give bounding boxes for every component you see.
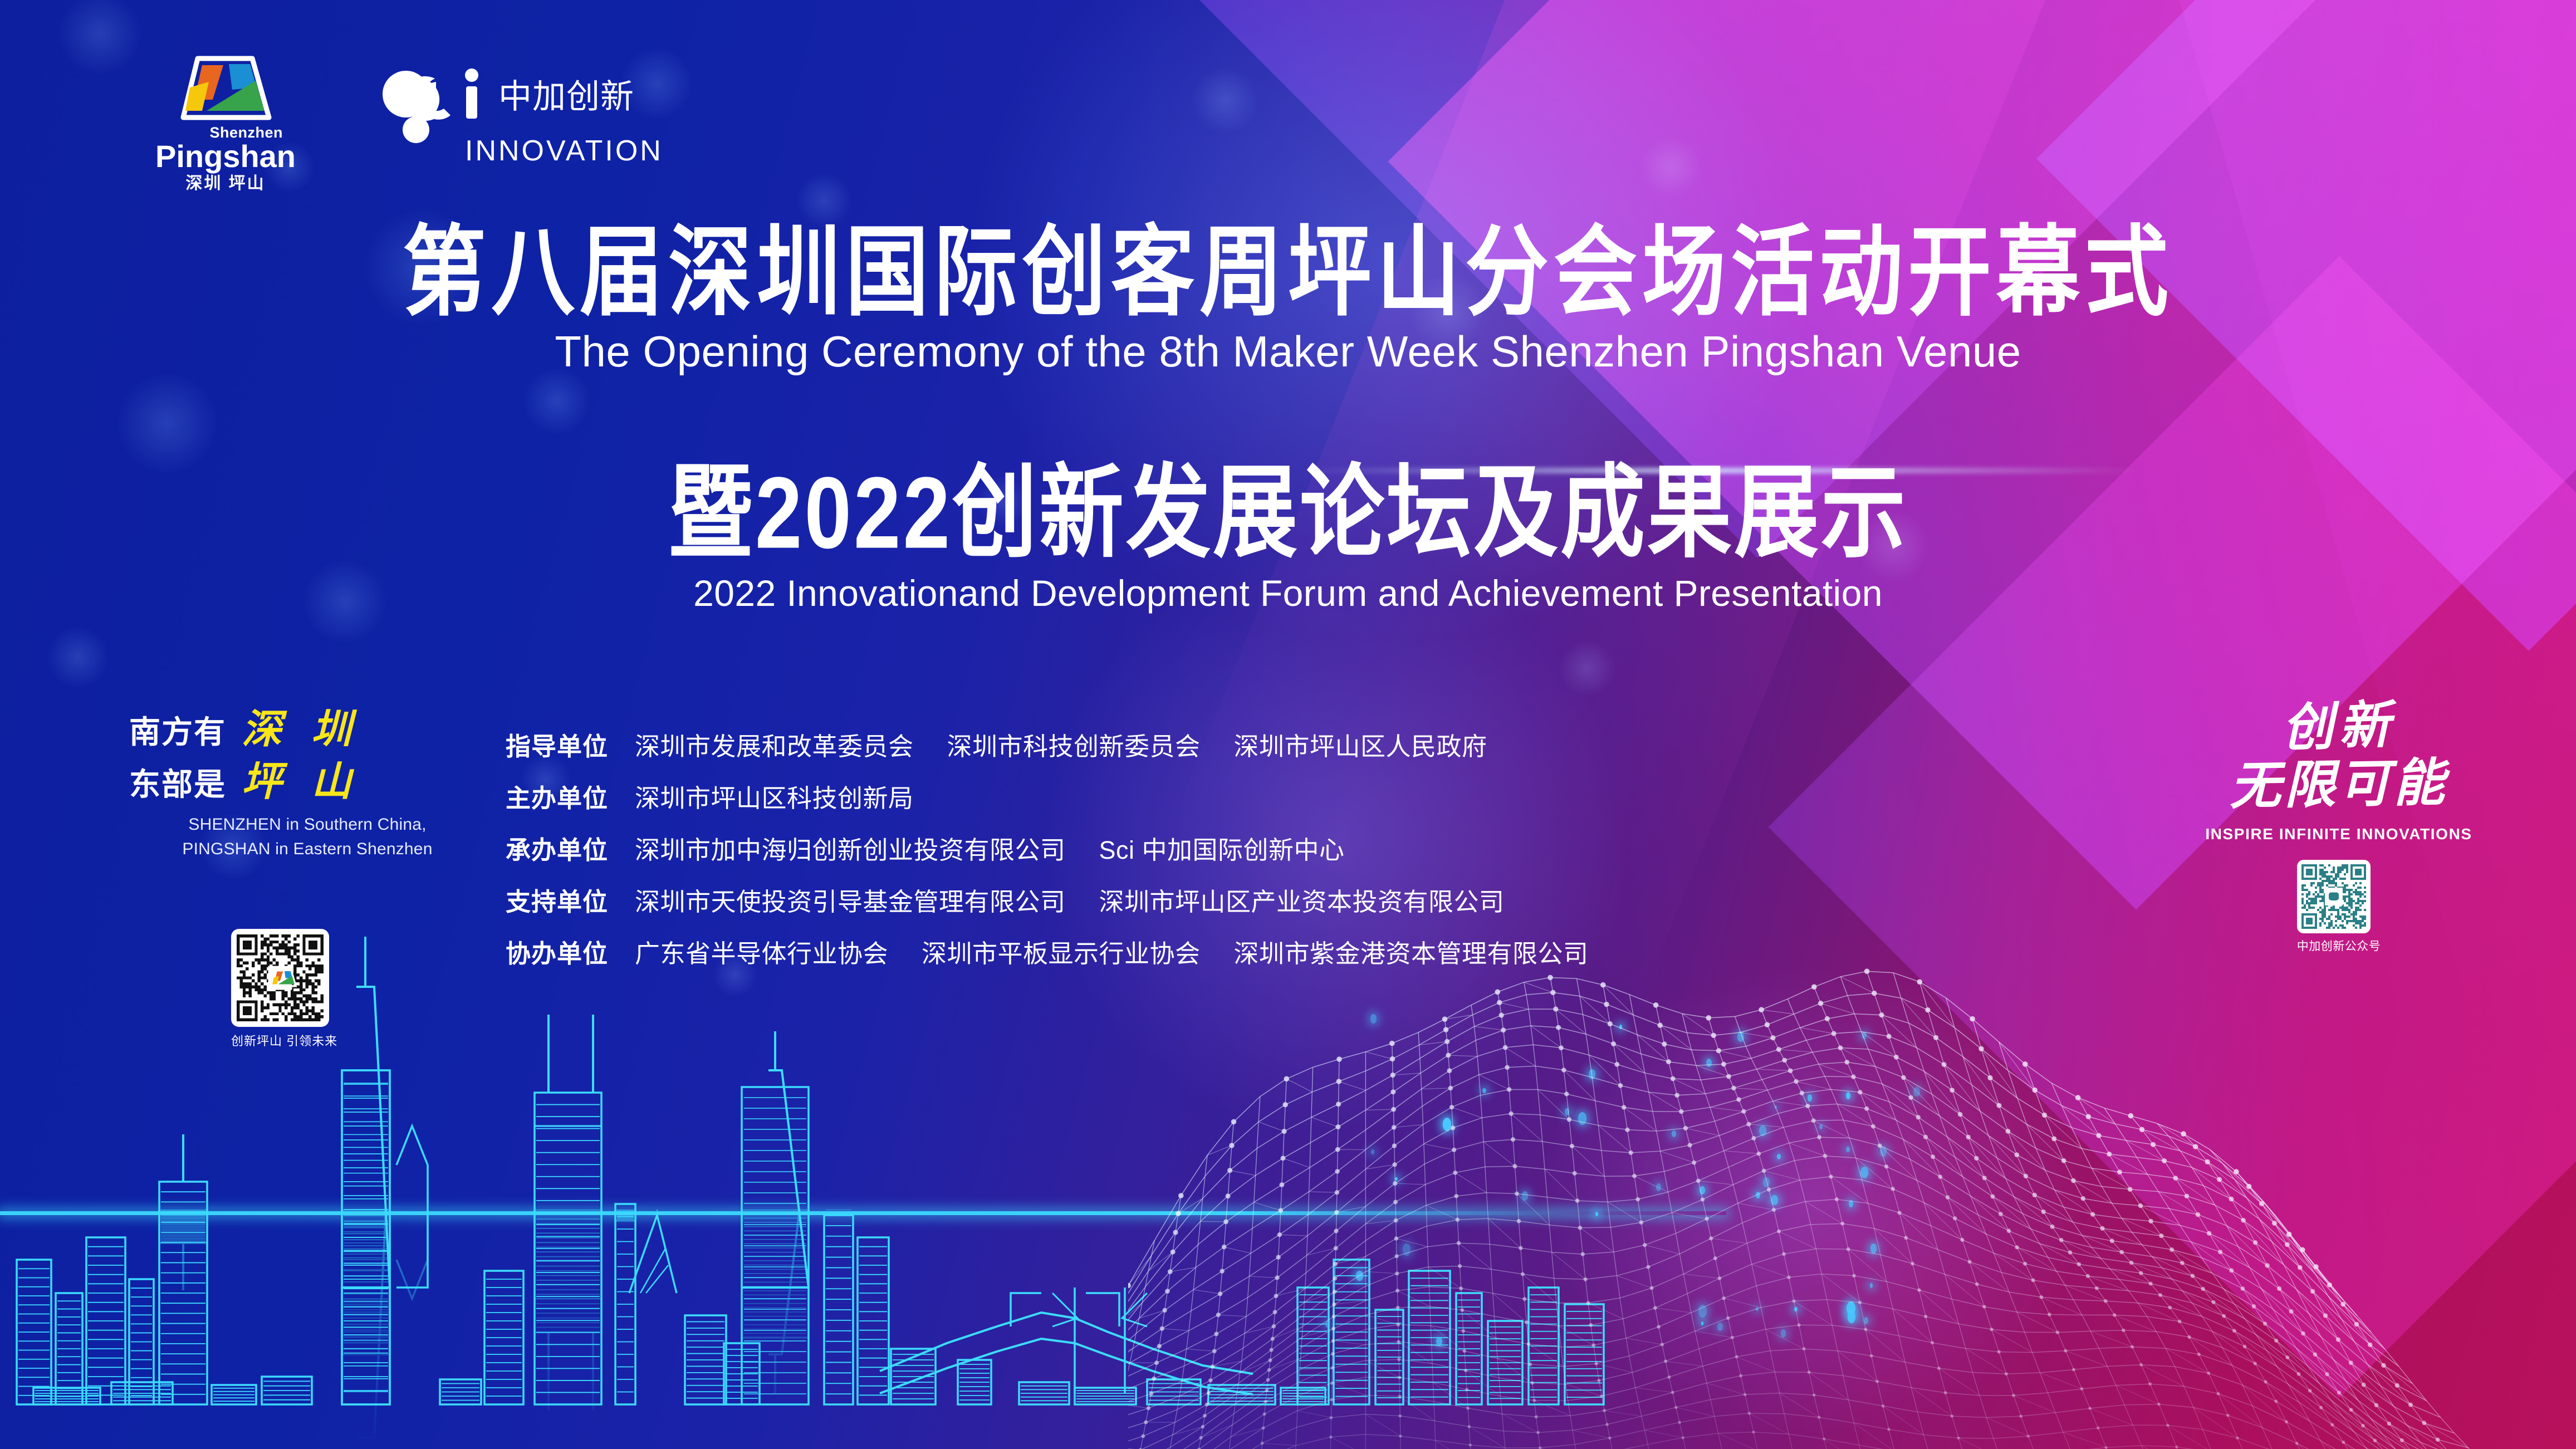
organization-item: 深圳市坪山区科技创新局 [635,786,914,811]
pingshan-shenzhen-label: Shenzhen [209,125,283,140]
glow-dot [1862,1032,1867,1039]
organization-item: 深圳市加中海归创新创业投资有限公司 [635,838,1066,863]
pingshan-qr-block[interactable]: 创新坪山 引领未来 [231,929,337,1049]
left-slogan-en: SHENZHEN in Southern China, PINGSHAN in … [129,812,486,861]
glow-dot [1356,1271,1363,1281]
bokeh-circle [47,626,109,688]
subtitle-cn: 暨2022创新发展论坛及成果展示 [0,462,2576,564]
organization-label: 支持单位 [506,889,635,914]
organization-label: 主办单位 [506,786,635,811]
sci-qr-code[interactable] [2297,860,2371,933]
organization-row: 协办单位广东省半导体行业协会深圳市平板显示行业协会深圳市紫金港资本管理有限公司 [506,941,1589,966]
glow-dot [1706,1059,1712,1067]
glow-dot [1371,1149,1374,1154]
glow-dot [1522,1191,1528,1201]
bokeh-circle [523,368,590,434]
left-slogan-line2-white: 东部是 [129,767,226,802]
organization-label: 指导单位 [506,734,635,759]
glow-dot [1819,1124,1823,1129]
organizations-list: 指导单位深圳市发展和改革委员会深圳市科技创新委员会深圳市坪山区人民政府主办单位深… [506,734,1589,993]
glow-dot [1775,1105,1777,1109]
glow-dot [1777,1154,1781,1159]
glow-dot [1870,1244,1877,1254]
sci-cn-label: 中加创新 [498,80,634,114]
glow-dot [1781,1329,1786,1338]
left-slogan-en-line1: SHENZHEN in Southern China, [129,812,486,837]
left-slogan-line1-white: 南方有 [129,715,226,750]
organization-items: 深圳市加中海归创新创业投资有限公司Sci 中加国际创新中心 [635,838,1345,863]
left-slogan-line1-yellow: 深 圳 [242,708,359,751]
organization-row: 承办单位深圳市加中海归创新创业投资有限公司Sci 中加国际创新中心 [506,838,1589,863]
organization-row: 主办单位深圳市坪山区科技创新局 [506,786,1589,811]
glow-dot [1737,1031,1744,1041]
glow-dot [1700,1186,1705,1195]
sci-qr-caption: 中加创新公众号 [2297,937,2381,954]
glow-dot [1595,1212,1599,1216]
glow-dot [1619,1025,1622,1029]
pingshan-qr-code[interactable] [231,929,329,1027]
pingshan-mountain-icon [178,53,273,124]
glow-dot [1395,1177,1397,1181]
glow-dot [1325,1321,1329,1327]
right-slogan-line-1: 创新 [2160,694,2518,759]
pingshan-cn-label: 深圳 坪山 [185,175,265,192]
bokeh-circle [117,373,217,473]
bokeh-circle [1192,67,1258,134]
organization-item: 深圳市紫金港资本管理有限公司 [1234,941,1589,966]
organization-item: 深圳市发展和改革委员会 [635,734,914,759]
particle-dots [1325,1014,1938,1359]
pingshan-logo: Shenzhen Pingshan 深圳 坪山 [167,53,284,192]
glow-dot [1656,1183,1661,1191]
glow-dot [1860,1167,1868,1179]
glow-dot [1403,1244,1411,1256]
right-slogan-block: 创新 无限可能 INSPIRE INFINITE INNOVATIONS 中加创… [2161,701,2517,954]
glow-dot [1849,1200,1853,1207]
glow-dot [1756,1307,1759,1311]
organization-item: Sci 中加国际创新中心 [1099,838,1345,863]
glow-dot [1808,1094,1812,1102]
glow-dot [1717,1323,1723,1331]
glow-dot [1913,1087,1920,1096]
organization-label: 协办单位 [506,941,635,966]
glow-dot [1672,1130,1676,1137]
sci-en-label: INNOVATION [465,136,663,165]
glow-dot [1759,1125,1766,1136]
page-title-en: The Opening Ceremony of the 8th Maker We… [0,330,2576,373]
glow-dot [1370,1014,1377,1024]
organization-items: 广东省半导体行业协会深圳市平板显示行业协会深圳市紫金港资本管理有限公司 [635,941,1589,966]
pingshan-qr-caption: 创新坪山 引领未来 [231,1031,337,1049]
glow-dot [1847,1301,1855,1315]
glow-dot [1578,1112,1586,1125]
subtitle-en: 2022 Innovationand Development Forum and… [0,575,2576,611]
glow-dot [1880,1146,1887,1157]
organization-item: 深圳市科技创新委员会 [947,734,1201,759]
left-slogan-line-2: 东部是 坪 山 [129,761,486,803]
organization-row: 指导单位深圳市发展和改革委员会深圳市科技创新委员会深圳市坪山区人民政府 [506,734,1589,759]
glow-dot [1870,1283,1873,1288]
glow-dot [1763,1177,1770,1187]
organization-items: 深圳市天使投资引导基金管理有限公司深圳市坪山区产业资本投资有限公司 [635,889,1505,914]
glow-dot [1589,1069,1595,1079]
logo-row: Shenzhen Pingshan 深圳 坪山 中加创新 INNOVATION [167,53,663,192]
glow-dot [1443,1118,1452,1131]
left-slogan-line-1: 南方有 深 圳 [129,708,486,751]
glow-dot [1771,1195,1777,1205]
organization-item: 深圳市天使投资引导基金管理有限公司 [635,889,1066,914]
glow-dot [1565,1108,1569,1115]
glow-dot [1794,1307,1797,1311]
right-slogan-line-2: 无限可能 [2160,755,2518,814]
organization-items: 深圳市坪山区科技创新局 [635,786,914,811]
organization-items: 深圳市发展和改革委员会深圳市科技创新委员会深圳市坪山区人民政府 [635,734,1487,759]
glow-dot [1846,1147,1850,1152]
bokeh-circle [1640,136,1701,198]
organization-label: 承办单位 [506,838,635,863]
left-slogan-en-line2: PINGSHAN in Eastern Shenzhen [129,837,486,861]
organization-item: 深圳市坪山区人民政府 [1234,734,1487,759]
glow-dot [1864,1317,1868,1324]
sci-qr-block[interactable]: 中加创新公众号 [2297,860,2381,954]
left-slogan-block: 南方有 深 圳 东部是 坪 山 SHENZHEN in Southern Chi… [129,708,486,861]
organization-row: 支持单位深圳市天使投资引导基金管理有限公司深圳市坪山区产业资本投资有限公司 [506,889,1589,914]
glow-dot [1701,1321,1703,1325]
sci-innovation-logo: 中加创新 INNOVATION [381,60,663,165]
glow-dot [1436,1337,1442,1346]
left-slogan-line2-yellow: 坪 山 [242,761,359,803]
pingshan-wordmark: Pingshan [155,141,296,172]
organization-item: 广东省半导体行业协会 [635,941,888,966]
event-banner: Shenzhen Pingshan 深圳 坪山 中加创新 INNOVATION [0,0,2576,1449]
glow-dot [1698,1305,1707,1318]
right-slogan-en: INSPIRE INFINITE INNOVATIONS [2161,825,2517,843]
main-title-block: 第八届深圳国际创客周坪山分会场活动开幕式 The Opening Ceremon… [0,223,2576,373]
organization-item: 深圳市平板显示行业协会 [922,941,1201,966]
organization-item: 深圳市坪山区产业资本投资有限公司 [1099,889,1505,914]
page-title-cn: 第八届深圳国际创客周坪山分会场活动开幕式 [0,223,2576,321]
subtitle-block: 暨2022创新发展论坛及成果展示 2022 Innovationand Deve… [0,462,2576,611]
right-slogan-cn: 创新 无限可能 [2161,701,2517,811]
glow-dot [1846,1092,1850,1099]
glow-dot [1482,1088,1486,1094]
glow-dot [1756,1192,1760,1198]
bokeh-circle [1559,640,1615,696]
